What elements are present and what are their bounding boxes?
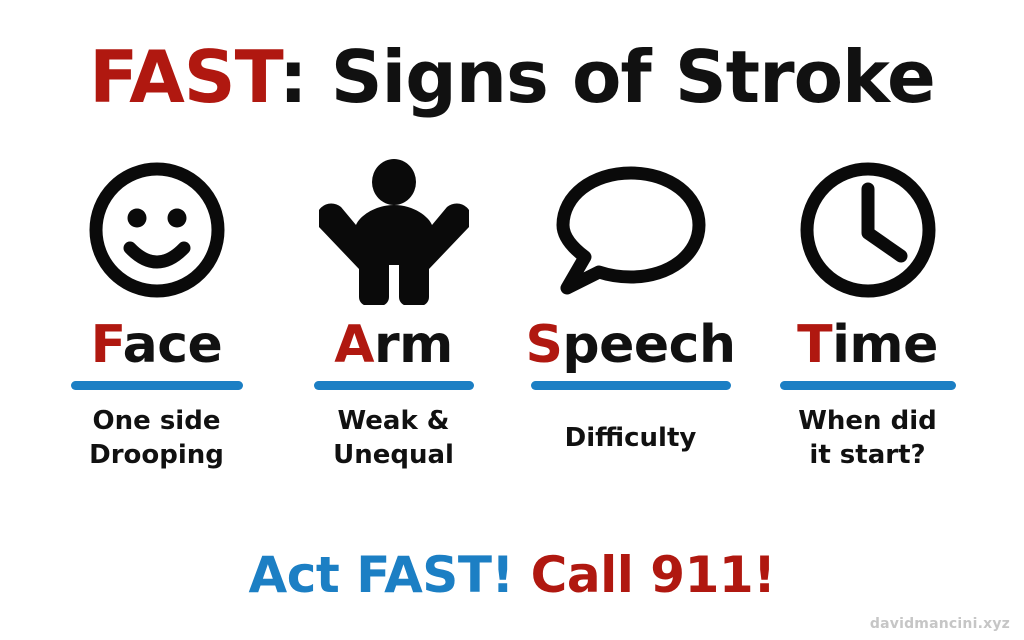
page-title: FAST: Signs of Stroke bbox=[0, 36, 1024, 118]
sign-description-face: One side Drooping bbox=[89, 404, 224, 472]
call-to-action: Act FAST! Call 911! bbox=[0, 546, 1024, 604]
sign-word-face: Face bbox=[91, 317, 223, 373]
page-title-accent: FAST bbox=[89, 35, 279, 119]
sign-letter-face: F bbox=[91, 315, 123, 375]
sign-word-rest-face: ace bbox=[123, 315, 223, 375]
sign-word-rest-speech: peech bbox=[562, 315, 735, 375]
sign-word-rest-arm: rm bbox=[374, 315, 453, 375]
sign-underline-speech bbox=[531, 381, 731, 390]
sign-letter-speech: S bbox=[525, 315, 562, 375]
sign-underline-arm bbox=[314, 381, 474, 390]
smiley-face-icon bbox=[82, 155, 232, 305]
cta-call-911: Call 911! bbox=[531, 546, 776, 604]
sign-underline-time bbox=[780, 381, 956, 390]
sign-description-time: When did it start? bbox=[798, 404, 937, 472]
sign-letter-arm: A bbox=[334, 315, 374, 375]
sign-column-face: Face One side Drooping bbox=[38, 155, 275, 472]
sign-column-speech: Speech Difficulty bbox=[512, 155, 749, 455]
clock-icon bbox=[793, 155, 943, 305]
sign-letter-time: T bbox=[797, 315, 832, 375]
sign-word-speech: Speech bbox=[525, 317, 735, 373]
sign-column-arm: Arm Weak & Unequal bbox=[275, 155, 512, 472]
watermark: davidmancini.xyz bbox=[870, 616, 1010, 632]
sign-description-arm: Weak & Unequal bbox=[333, 404, 454, 472]
sign-description-speech: Difficulty bbox=[565, 421, 697, 455]
cta-act-fast: Act FAST! bbox=[249, 546, 514, 604]
page-title-rest: : Signs of Stroke bbox=[279, 35, 935, 119]
signs-columns: Face One side Drooping Arm Weak & Unequa… bbox=[38, 155, 986, 485]
sign-word-rest-time: ime bbox=[832, 315, 938, 375]
sign-underline-face bbox=[71, 381, 243, 390]
sign-word-arm: Arm bbox=[334, 317, 453, 373]
sign-word-time: Time bbox=[797, 317, 938, 373]
sign-column-time: Time When did it start? bbox=[749, 155, 986, 472]
speech-bubble-icon bbox=[551, 155, 711, 305]
cta-spacer bbox=[514, 546, 531, 604]
person-arms-raised-icon bbox=[319, 155, 469, 305]
